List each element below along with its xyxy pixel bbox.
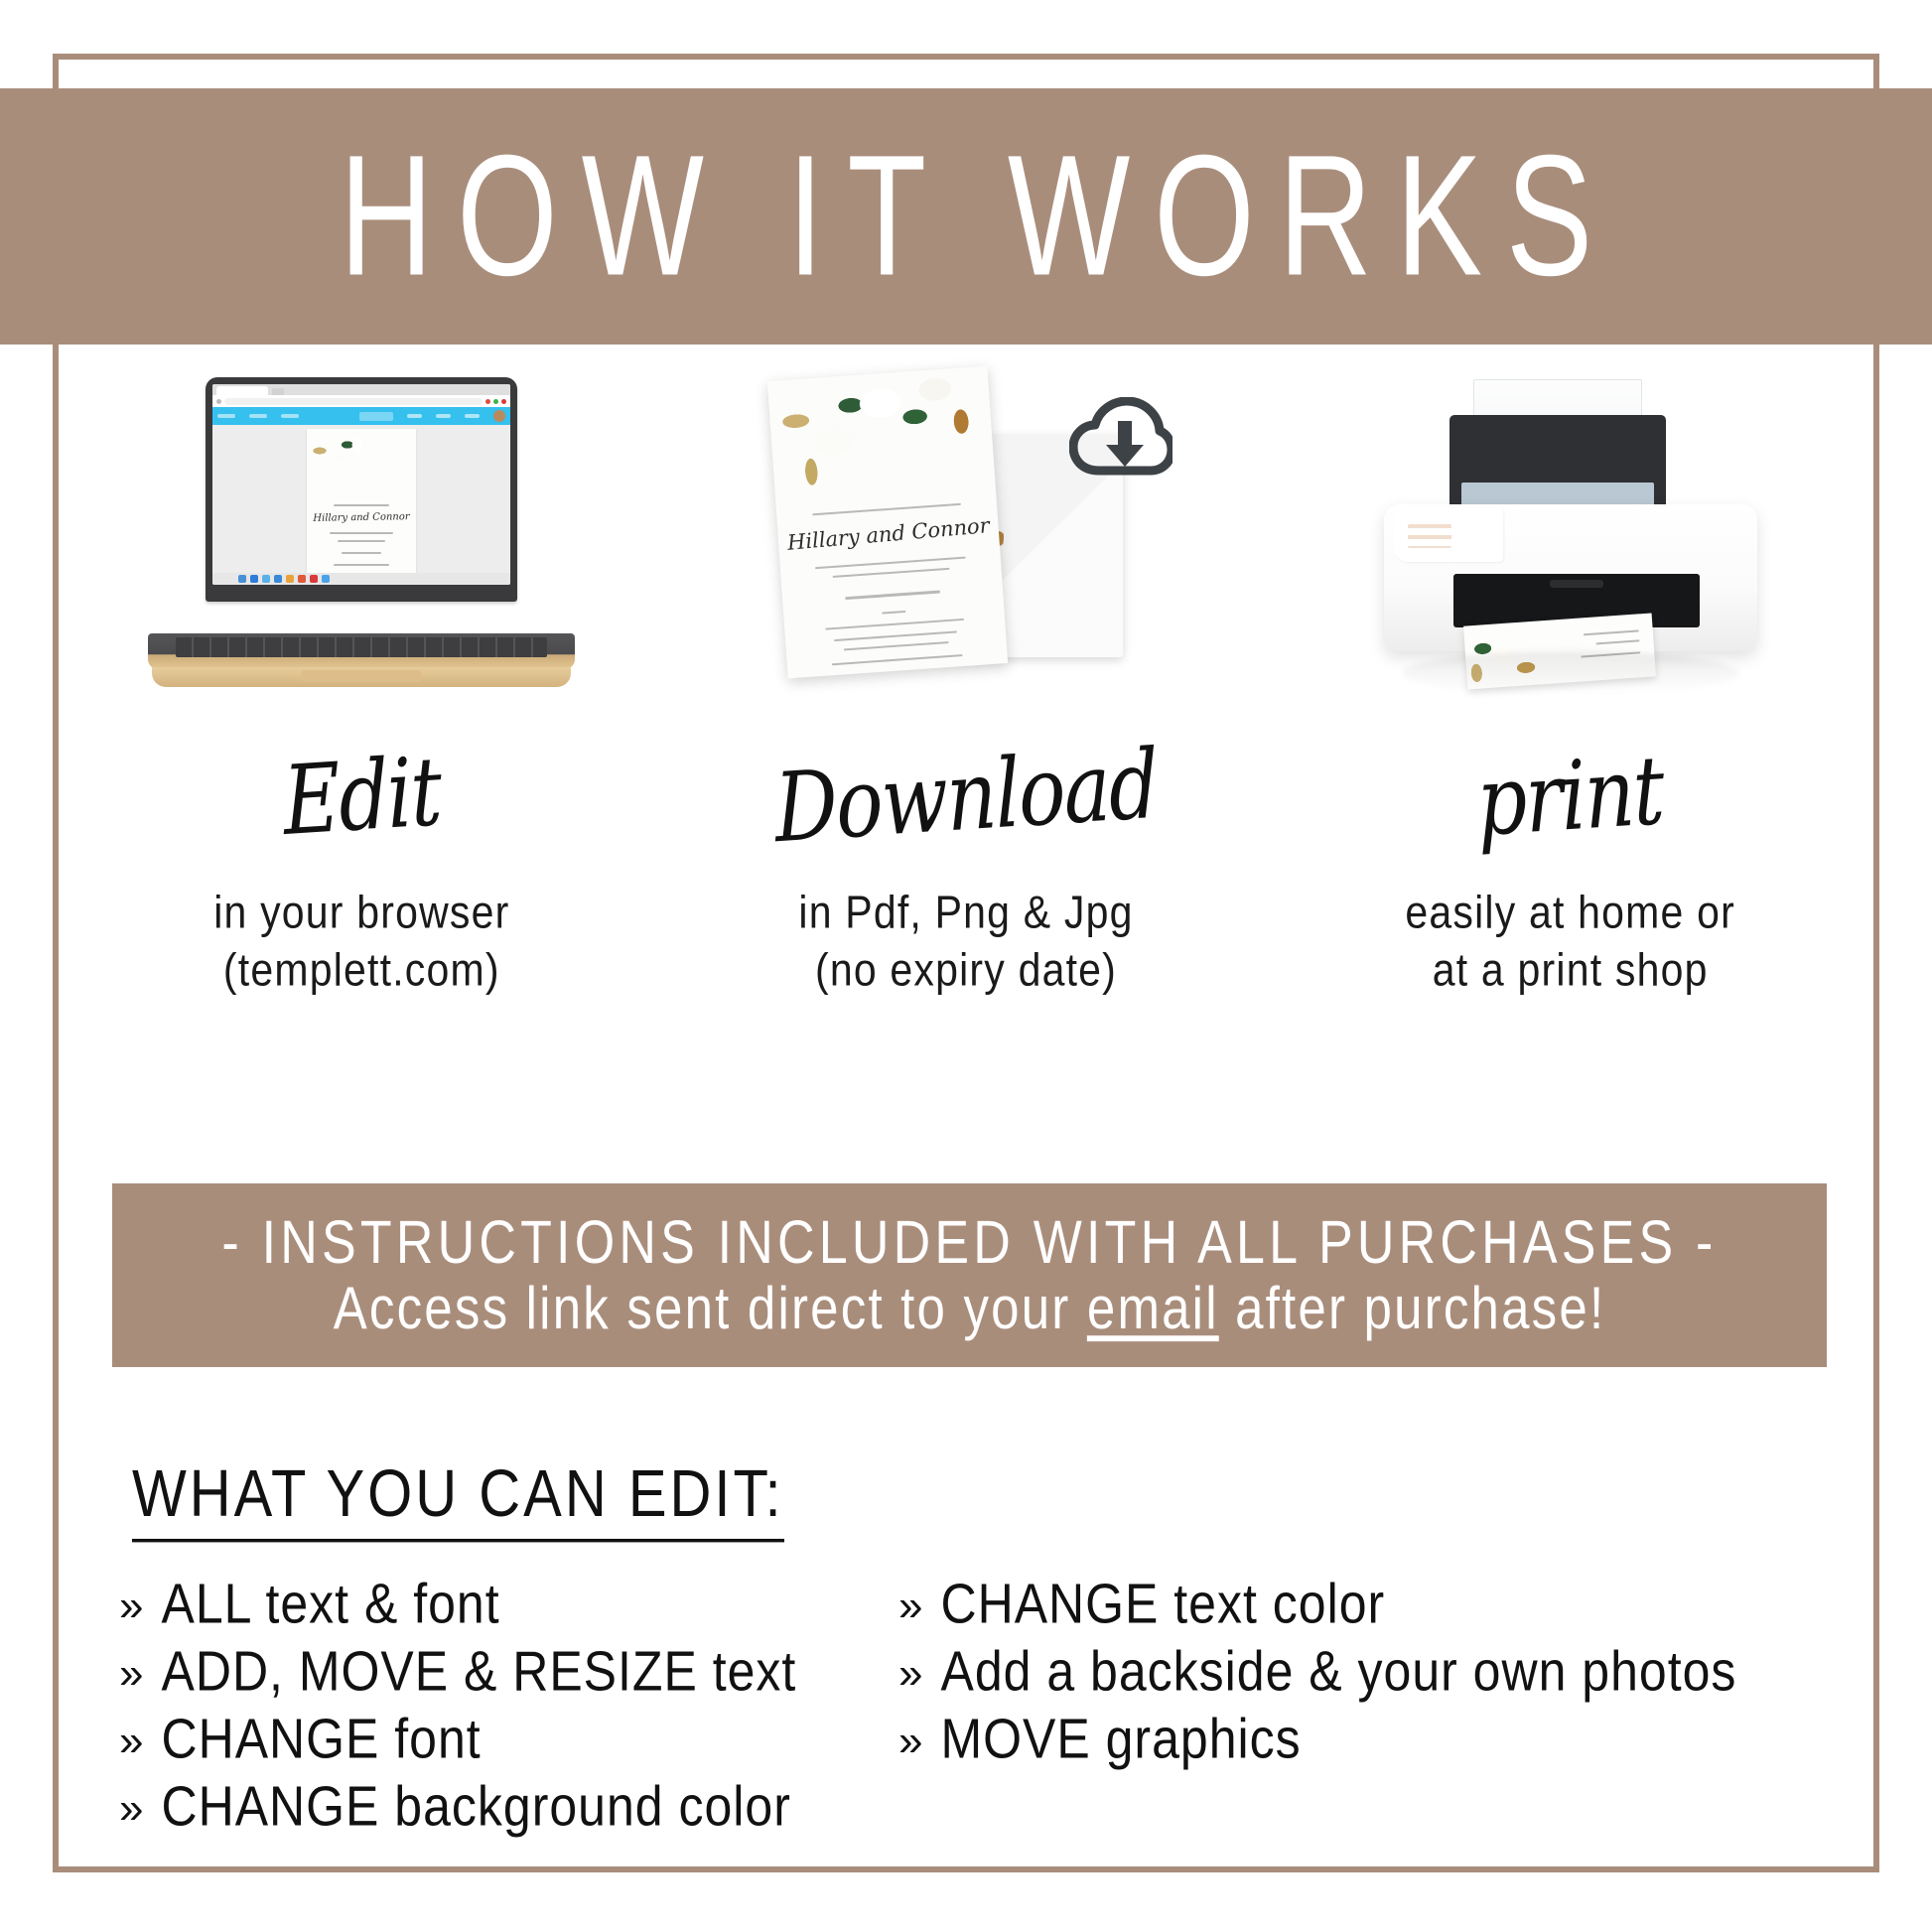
- invitation-names: Hillary and Connor: [314, 511, 410, 524]
- floral-graphic: [767, 366, 996, 502]
- list-item-label: CHANGE font: [161, 1711, 481, 1767]
- list-item: » CHANGE font: [119, 1714, 993, 1763]
- invitation-text-line: [338, 540, 385, 542]
- laptop-trackpad: [302, 670, 421, 682]
- printer-reflection: [1402, 651, 1739, 695]
- edit-list-right-column: » CHANGE text color » Add a backside & y…: [898, 1579, 1891, 1781]
- browser-tab-strip: [212, 384, 510, 395]
- invitation-envelope-group: Hillary and Connor: [758, 373, 1174, 726]
- caption-line-1: easily at home or: [1405, 884, 1735, 942]
- printer-illustration: [1268, 377, 1872, 735]
- instructions-subline-before: Access link sent direct to your: [334, 1275, 1087, 1341]
- caption-line-1: in Pdf, Png & Jpg: [798, 884, 1133, 942]
- url-field: [224, 398, 483, 405]
- how-it-works-infographic: HOW IT WORKS: [0, 0, 1932, 1932]
- step-print: print easily at home or at a print shop: [1268, 377, 1872, 1092]
- menu-icon: [501, 399, 506, 404]
- bullet-chevron-icon: »: [119, 1585, 143, 1628]
- email-link[interactable]: email: [1087, 1275, 1219, 1341]
- invitation-text-line: [825, 619, 964, 630]
- laptop-device: Hillary and Connor: [148, 377, 575, 705]
- list-item-label: Add a backside & your own photos: [940, 1643, 1736, 1700]
- laptop-screen: Hillary and Connor: [212, 384, 510, 585]
- browser-tab: [216, 386, 268, 395]
- menu-file: [217, 414, 235, 418]
- invitation-text-line: [334, 564, 389, 566]
- invitation-text-line: [844, 641, 949, 650]
- laptop-palmrest: [152, 667, 571, 687]
- invitation-preview: Hillary and Connor: [307, 429, 416, 576]
- invitation-date-line: [845, 590, 940, 600]
- cloud-download-icon: [1069, 397, 1173, 483]
- caption-line-1: in your browser: [213, 884, 509, 942]
- bullet-chevron-icon: »: [119, 1652, 143, 1696]
- invitation-text-line: [832, 654, 963, 665]
- caption-line-2: (no expiry date): [798, 941, 1133, 1000]
- bullet-chevron-icon: »: [898, 1720, 922, 1763]
- bullet-chevron-icon: »: [898, 1585, 922, 1628]
- laptop-illustration: Hillary and Connor: [60, 377, 664, 735]
- invitation-text-line: [834, 630, 957, 641]
- list-item-label: MOVE graphics: [940, 1711, 1301, 1767]
- printer-device: [1362, 377, 1779, 725]
- invitation-names: Hillary and Connor: [786, 513, 990, 555]
- step-caption-download: in Pdf, Png & Jpg (no expiry date): [798, 884, 1133, 1001]
- list-item: » ADD, MOVE & RESIZE text: [119, 1646, 993, 1696]
- caption-line-2: (templett.com): [213, 941, 509, 1000]
- list-item: » Add a backside & your own photos: [898, 1646, 1891, 1696]
- floral-graphic: [307, 429, 361, 459]
- step-edit: Hillary and Connor: [60, 377, 664, 1092]
- steps-row: Hillary and Connor: [60, 377, 1872, 1092]
- step-script-label-download: Download: [773, 737, 1160, 856]
- edit-list-left: » ALL text & font » ADD, MOVE & RESIZE t…: [119, 1579, 993, 1849]
- header-band: HOW IT WORKS: [0, 88, 1932, 345]
- laptop-base: [148, 633, 575, 669]
- printed-text-line: [1595, 639, 1639, 644]
- invitation-text-line: [330, 532, 393, 534]
- menu-undo: [281, 414, 299, 418]
- download-illustration: Hillary and Connor: [664, 377, 1269, 735]
- profile-icon: [493, 399, 498, 404]
- bullet-chevron-icon: »: [119, 1720, 143, 1763]
- bullet-chevron-icon: »: [898, 1652, 922, 1696]
- step-script-label-edit: Edit: [281, 744, 442, 849]
- os-taskbar: [212, 573, 510, 585]
- edit-section-heading: WHAT YOU CAN EDIT:: [132, 1455, 784, 1542]
- invitation-text-line: [833, 568, 950, 578]
- list-item: » MOVE graphics: [898, 1714, 1891, 1763]
- menu-admin: [436, 414, 451, 418]
- invitation-text-line: [334, 504, 389, 506]
- instructions-subline-after: after purchase!: [1219, 1275, 1606, 1341]
- list-item: » ALL text & font: [119, 1579, 993, 1628]
- page-title: HOW IT WORKS: [316, 130, 1616, 302]
- printer-control-buttons: [1408, 524, 1451, 548]
- step-script-label-print: print: [1475, 743, 1665, 850]
- step-caption-print: easily at home or at a print shop: [1405, 884, 1735, 1001]
- bullet-chevron-icon: »: [119, 1787, 143, 1831]
- step-caption-edit: in your browser (templett.com): [213, 884, 509, 1001]
- editor-canvas: Hillary and Connor: [212, 425, 510, 573]
- invitation-text-line: [342, 552, 381, 554]
- invitation-card: Hillary and Connor: [767, 366, 1008, 679]
- list-item-label: CHANGE background color: [161, 1778, 790, 1835]
- menu-shop: [407, 414, 422, 418]
- browser-address-bar: [212, 395, 510, 407]
- laptop-lid: Hillary and Connor: [206, 377, 517, 602]
- invitation-heading-line: [812, 503, 961, 515]
- download-button-mini: [359, 412, 393, 421]
- instructions-banner: - INSTRUCTIONS INCLUDED WITH ALL PURCHAS…: [112, 1183, 1827, 1367]
- laptop-keyboard: [176, 637, 547, 657]
- printer-slot-lip: [1550, 580, 1603, 588]
- printed-text-line: [1583, 629, 1638, 635]
- reload-icon: [216, 399, 221, 404]
- step-download: Hillary and Connor: [664, 377, 1269, 1092]
- list-item-label: ALL text & font: [161, 1576, 499, 1632]
- menu-options: [249, 414, 267, 418]
- menu-help: [465, 414, 480, 418]
- list-item-label: ADD, MOVE & RESIZE text: [161, 1643, 796, 1700]
- instructions-subline: Access link sent direct to your email af…: [334, 1274, 1606, 1343]
- extension-icon: [485, 399, 490, 404]
- list-item: » CHANGE background color: [119, 1781, 993, 1831]
- list-item: » CHANGE text color: [898, 1579, 1891, 1628]
- browser-new-tab-icon: [272, 388, 284, 395]
- invitation-text-line: [882, 611, 905, 615]
- instructions-headline: - INSTRUCTIONS INCLUDED WITH ALL PURCHAS…: [221, 1208, 1717, 1279]
- list-item-label: CHANGE text color: [940, 1576, 1385, 1632]
- printer-feed-tray: [1449, 415, 1666, 518]
- avatar: [493, 410, 505, 422]
- editor-app-bar: [212, 407, 510, 425]
- caption-line-2: at a print shop: [1405, 941, 1735, 1000]
